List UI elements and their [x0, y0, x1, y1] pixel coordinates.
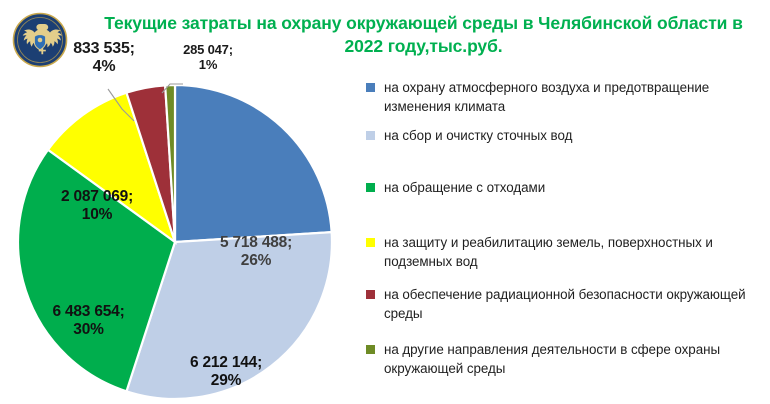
pie-label-waste-management: 6 483 654; 30% [26, 303, 151, 339]
legend-swatch-icon [366, 238, 375, 247]
legend-item-label: на охрану атмосферного воздуха и предотв… [384, 78, 766, 116]
pie-label-value: 833 535; [55, 40, 153, 58]
legend-swatch-icon [366, 183, 375, 192]
pie-label-percent: 1% [160, 58, 256, 73]
pie-label-land-water: 2 087 069; 10% [32, 188, 162, 224]
pie-chart-svg [0, 62, 356, 404]
legend-item-label: на обеспечение радиационной безопасности… [384, 285, 766, 323]
pie-label-percent: 4% [55, 58, 153, 76]
legend-item-label: на защиту и реабилитацию земель, поверхн… [384, 233, 766, 271]
pie-label-value: 2 087 069; [32, 188, 162, 206]
legend-item-label: на обращение с отходами [384, 178, 545, 197]
pie-label-air-protection: 5 718 488; 26% [196, 234, 316, 270]
legend-swatch-icon [366, 83, 375, 92]
pie-label-percent: 10% [32, 206, 162, 224]
legend-item-radiation-safety[interactable]: на обеспечение радиационной безопасности… [366, 285, 766, 323]
chart-legend: на охрану атмосферного воздуха и предотв… [366, 78, 766, 398]
pie-label-percent: 26% [196, 252, 316, 270]
legend-item-land-water[interactable]: на защиту и реабилитацию земель, поверхн… [366, 233, 766, 271]
slide-canvas: Текущие затраты на охрану окружающей сре… [0, 0, 770, 404]
pie-slice-air-protection[interactable] [175, 85, 332, 242]
legend-item-label: на сбор и очистку сточных вод [384, 126, 572, 145]
legend-item-waste-management[interactable]: на обращение с отходами [366, 178, 766, 197]
legend-swatch-icon [366, 345, 375, 354]
legend-item-air-protection[interactable]: на охрану атмосферного воздуха и предотв… [366, 78, 766, 116]
pie-label-value: 285 047; [160, 43, 256, 58]
pie-label-percent: 29% [166, 372, 286, 390]
pie-label-other: 285 047; 1% [160, 43, 256, 73]
pie-chart: 5 718 488; 26% 6 212 144; 29% 6 483 654;… [0, 62, 356, 404]
pie-label-percent: 30% [26, 321, 151, 339]
pie-label-value: 5 718 488; [196, 234, 316, 252]
pie-label-radiation-safety: 833 535; 4% [55, 40, 153, 77]
pie-label-value: 6 212 144; [166, 354, 286, 372]
legend-swatch-icon [366, 290, 375, 299]
legend-item-wastewater[interactable]: на сбор и очистку сточных вод [366, 126, 766, 145]
legend-swatch-icon [366, 131, 375, 140]
legend-item-other[interactable]: на другие направления деятельности в сфе… [366, 340, 766, 378]
legend-item-label: на другие направления деятельности в сфе… [384, 340, 766, 378]
pie-label-value: 6 483 654; [26, 303, 151, 321]
pie-label-wastewater: 6 212 144; 29% [166, 354, 286, 390]
